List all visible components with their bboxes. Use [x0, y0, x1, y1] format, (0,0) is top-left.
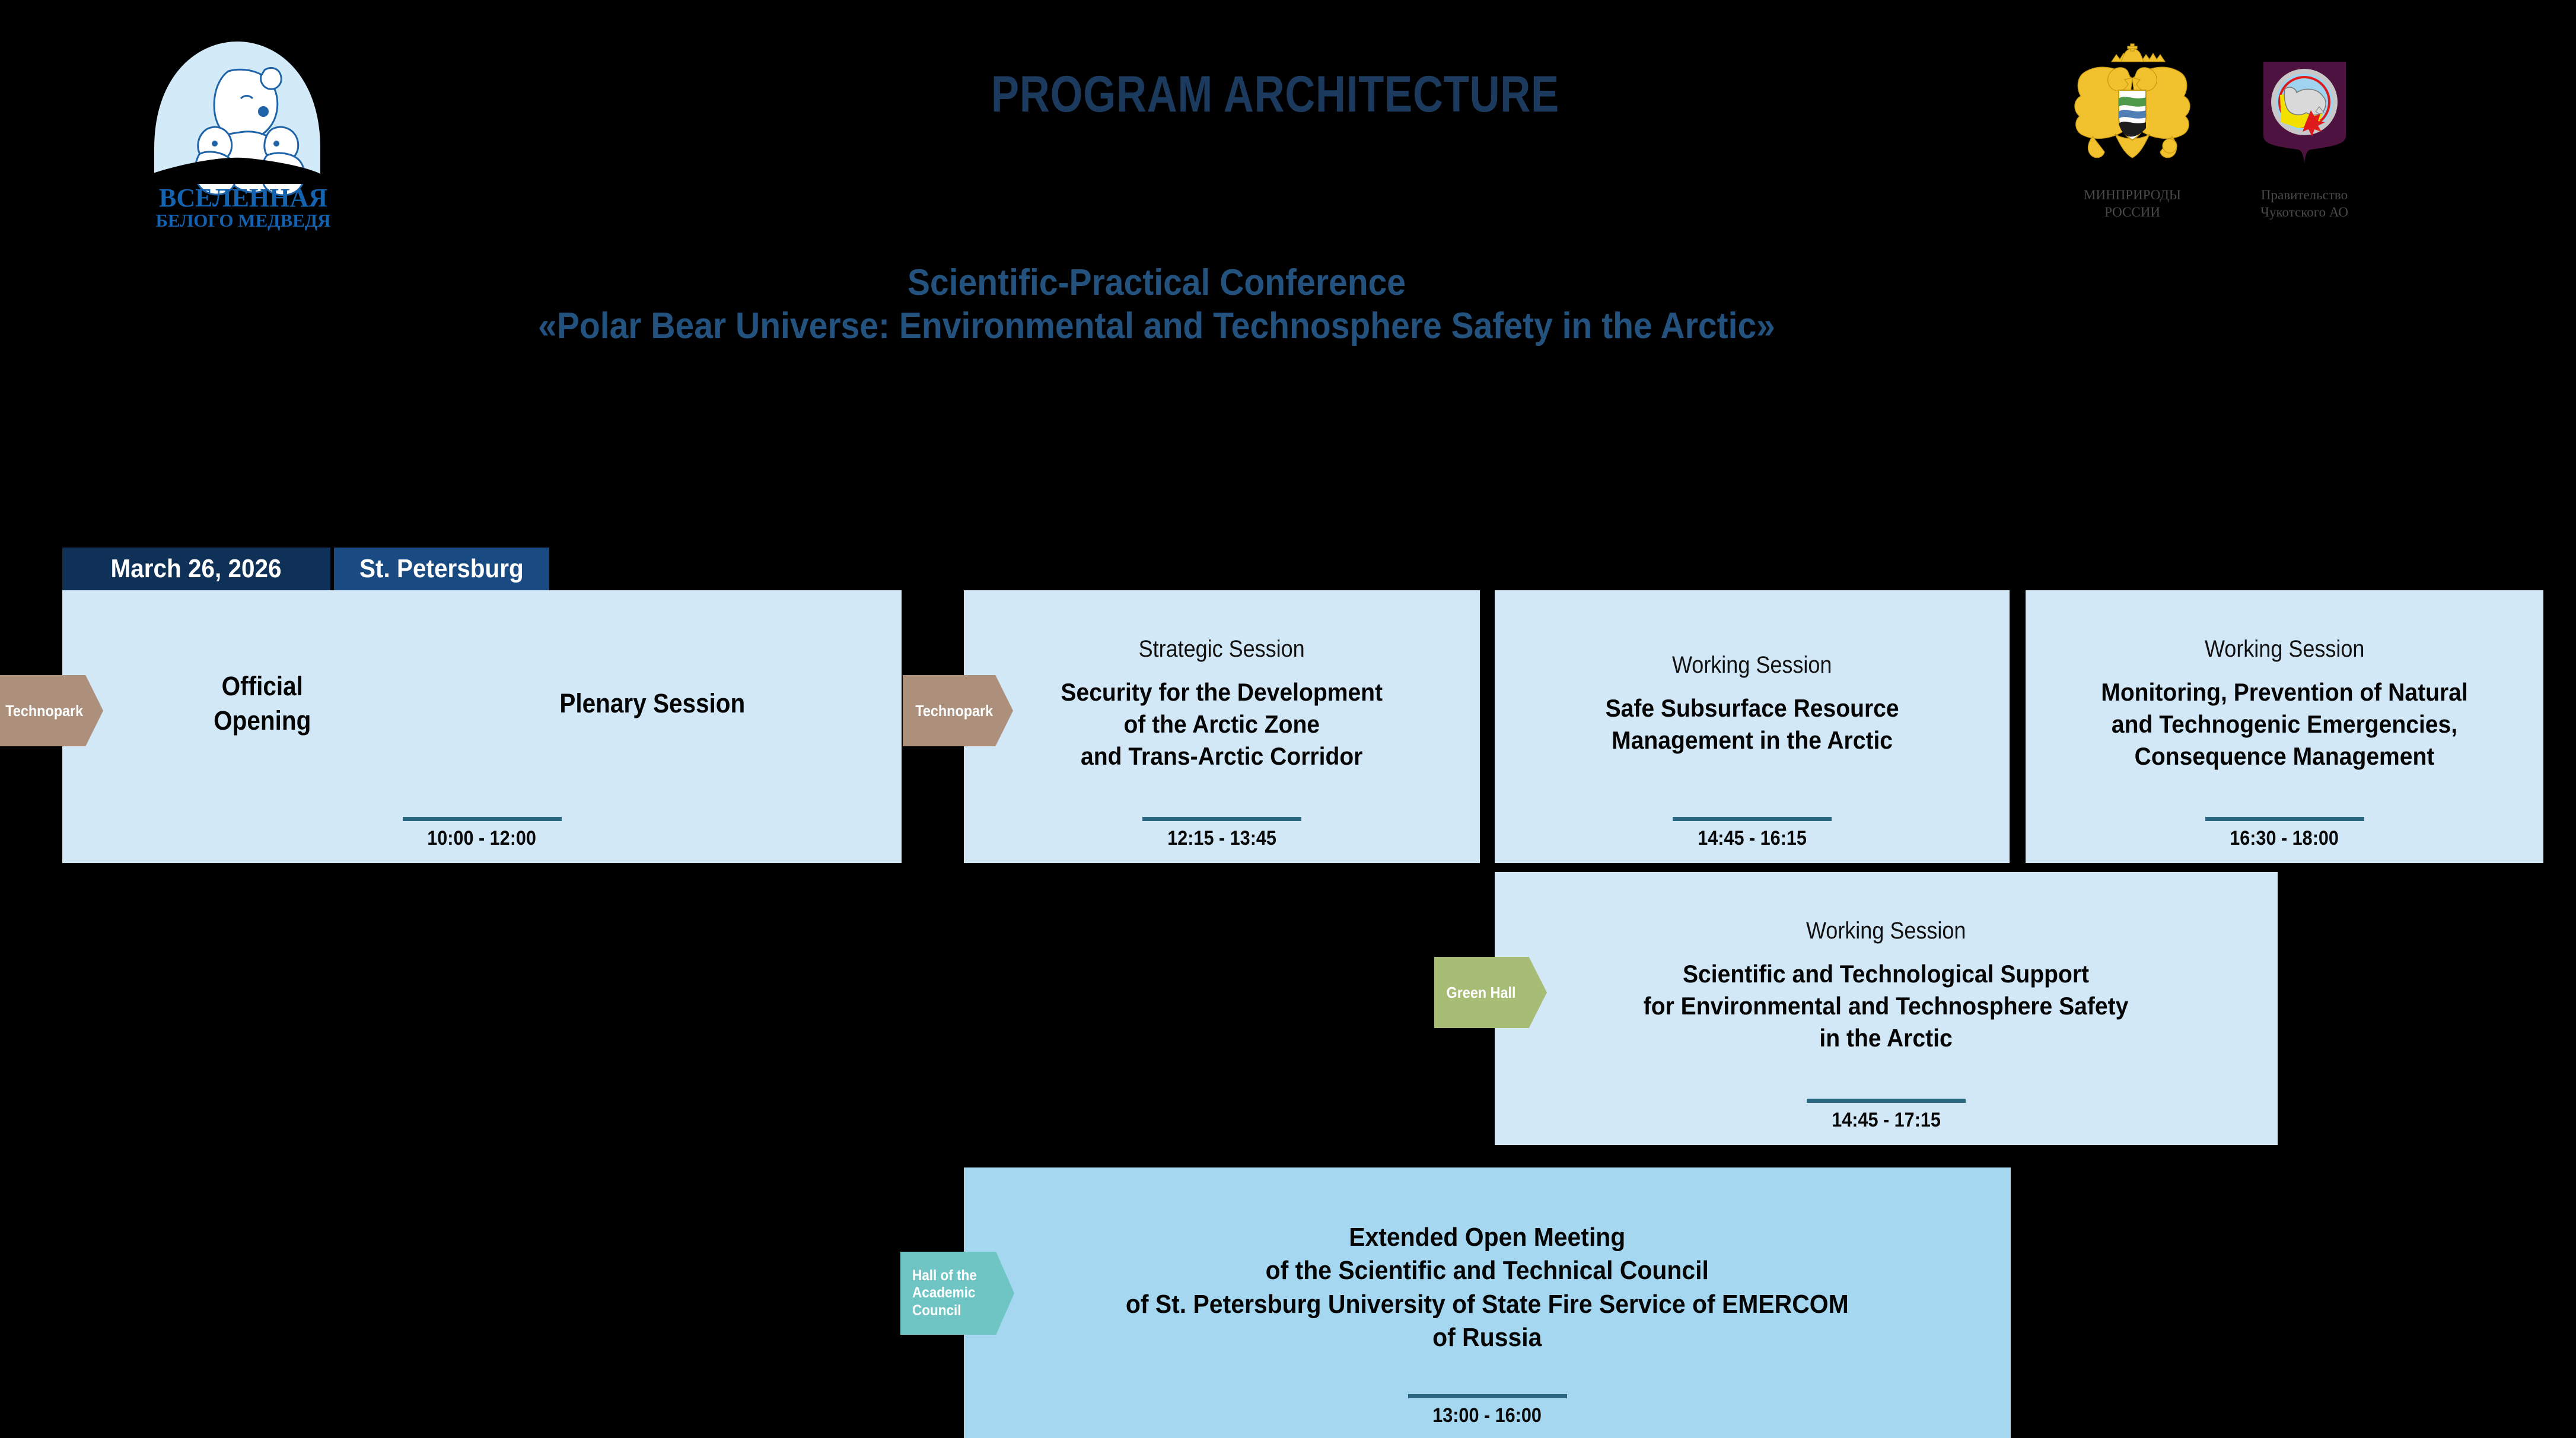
- chukotka-caption: Правительство Чукотского АО: [2236, 187, 2373, 221]
- schedule-city-chip: St. Petersburg: [334, 548, 549, 590]
- venue-tag-academic-council[interactable]: Hall of the Academic Council: [900, 1252, 1014, 1335]
- session-title-monitoring: Monitoring, Prevention of Natural and Te…: [2101, 676, 2467, 772]
- session-title-sci-tech-support: Scientific and Technological Support for…: [1644, 958, 2129, 1054]
- schedule-date-label: March 26, 2026: [111, 554, 282, 584]
- session-footer: 12:15 - 13:45: [964, 817, 1480, 863]
- logo-line1: ВСЕЛЕННАЯ: [159, 183, 327, 212]
- minprirody-caption: МИНПРИРОДЫ РОССИИ: [2064, 187, 2201, 221]
- page-title: PROGRAM ARCHITECTURE: [813, 65, 1737, 124]
- venue-tag-green-hall[interactable]: Green Hall: [1434, 957, 1547, 1028]
- poster-canvas: ВСЕЛЕННАЯ БЕЛОГО МЕДВЕДЯ PROGRAM ARCHITE…: [0, 0, 2576, 1438]
- session-card-working-session-sci-tech-support[interactable]: Working Session Scientific and Technolog…: [1495, 872, 2278, 1145]
- session-time-opening-plenary: 10:00 - 12:00: [428, 827, 537, 850]
- session-card-body: Working Session Monitoring, Prevention o…: [2026, 590, 2543, 817]
- subtitle-line-1: Scientific-Practical Conference: [202, 261, 2112, 304]
- session-footer: 14:45 - 17:15: [1495, 1099, 2278, 1145]
- session-card-extended-open-meeting-stc[interactable]: Extended Open Meeting of the Scientific …: [964, 1167, 2011, 1438]
- session-time-extended-open-meeting: 13:00 - 16:00: [1433, 1404, 1542, 1427]
- session-title-official-opening: Official Opening: [214, 669, 311, 737]
- session-card-split-body: Official Opening Plenary Session: [62, 590, 902, 817]
- session-card-working-session-monitoring[interactable]: Working Session Monitoring, Prevention o…: [2026, 590, 2543, 863]
- session-kind-working-1: Working Session: [1672, 651, 1832, 679]
- session-footer: 14:45 - 16:15: [1495, 817, 2010, 863]
- session-footer: 10:00 - 12:00: [62, 817, 902, 863]
- time-divider: [2205, 817, 2364, 821]
- session-title-plenary-session: Plenary Session: [559, 686, 745, 721]
- time-divider: [1673, 817, 1832, 821]
- polar-bear-universe-logo: ВСЕЛЕННАЯ БЕЛОГО МЕДВЕДЯ: [119, 36, 368, 231]
- logo-line2: БЕЛОГО МЕДВЕДЯ: [155, 210, 330, 231]
- time-divider: [1142, 817, 1301, 821]
- polar-bear-logo-art: ВСЕЛЕННАЯ БЕЛОГО МЕДВЕДЯ: [119, 36, 368, 231]
- session-footer: 13:00 - 16:00: [964, 1394, 2011, 1438]
- session-card-opening-plenary[interactable]: Official Opening Plenary Session 10:00 -…: [62, 590, 902, 863]
- session-card-strategic-session-arctic-corridor[interactable]: Strategic Session Security for the Devel…: [964, 590, 1480, 863]
- partner-logos: МИНПРИРОДЫ РОССИИ Правительство Чукотско…: [2064, 42, 2378, 267]
- session-kind-strategic: Strategic Session: [1139, 635, 1305, 663]
- session-card-body: Strategic Session Security for the Devel…: [964, 590, 1480, 817]
- schedule-date-chip: March 26, 2026: [62, 548, 330, 590]
- venue-tag-label: Hall of the Academic Council: [912, 1267, 977, 1320]
- session-time-monitoring: 16:30 - 18:00: [2230, 827, 2339, 850]
- session-footer: 16:30 - 18:00: [2026, 817, 2543, 863]
- time-divider: [403, 817, 562, 821]
- venue-tag-label: Technopark: [915, 702, 993, 720]
- session-time-sci-tech-support: 14:45 - 17:15: [1832, 1109, 1941, 1132]
- session-kind-working-2: Working Session: [2205, 635, 2364, 663]
- session-card-working-session-subsurface[interactable]: Working Session Safe Subsurface Resource…: [1495, 590, 2010, 863]
- chukotka-government-logo: Правительство Чукотского АО: [2236, 59, 2373, 221]
- venue-tag-technopark-2[interactable]: Technopark: [903, 675, 1013, 746]
- chukotka-shield-icon: [2259, 59, 2351, 178]
- minprirody-rossii-logo: МИНПРИРОДЫ РОССИИ: [2064, 42, 2201, 221]
- session-kind-working-3: Working Session: [1806, 917, 1966, 945]
- schedule-city-label: St. Petersburg: [359, 554, 524, 584]
- session-title-extended-open-meeting: Extended Open Meeting of the Scientific …: [1126, 1221, 1849, 1354]
- session-time-arctic-corridor: 12:15 - 13:45: [1167, 827, 1276, 850]
- session-title-arctic-corridor: Security for the Development of the Arct…: [1061, 676, 1383, 772]
- venue-tag-label: Technopark: [5, 702, 83, 720]
- venue-tag-label: Green Hall: [1447, 984, 1516, 1002]
- venue-tag-technopark-1[interactable]: Technopark: [0, 675, 103, 746]
- conference-subtitle: Scientific-Practical Conference «Polar B…: [119, 261, 2195, 348]
- russian-eagle-icon: [2064, 42, 2201, 178]
- time-divider: [1408, 1394, 1567, 1398]
- session-time-subsurface: 14:45 - 16:15: [1698, 827, 1807, 850]
- time-divider: [1807, 1099, 1966, 1103]
- session-card-body: Working Session Scientific and Technolog…: [1495, 872, 2278, 1099]
- session-title-subsurface: Safe Subsurface Resource Management in t…: [1606, 692, 1899, 756]
- session-card-body: Working Session Safe Subsurface Resource…: [1495, 590, 2010, 817]
- session-card-body: Extended Open Meeting of the Scientific …: [964, 1167, 2011, 1394]
- subtitle-line-2: «Polar Bear Universe: Environmental and …: [202, 304, 2112, 348]
